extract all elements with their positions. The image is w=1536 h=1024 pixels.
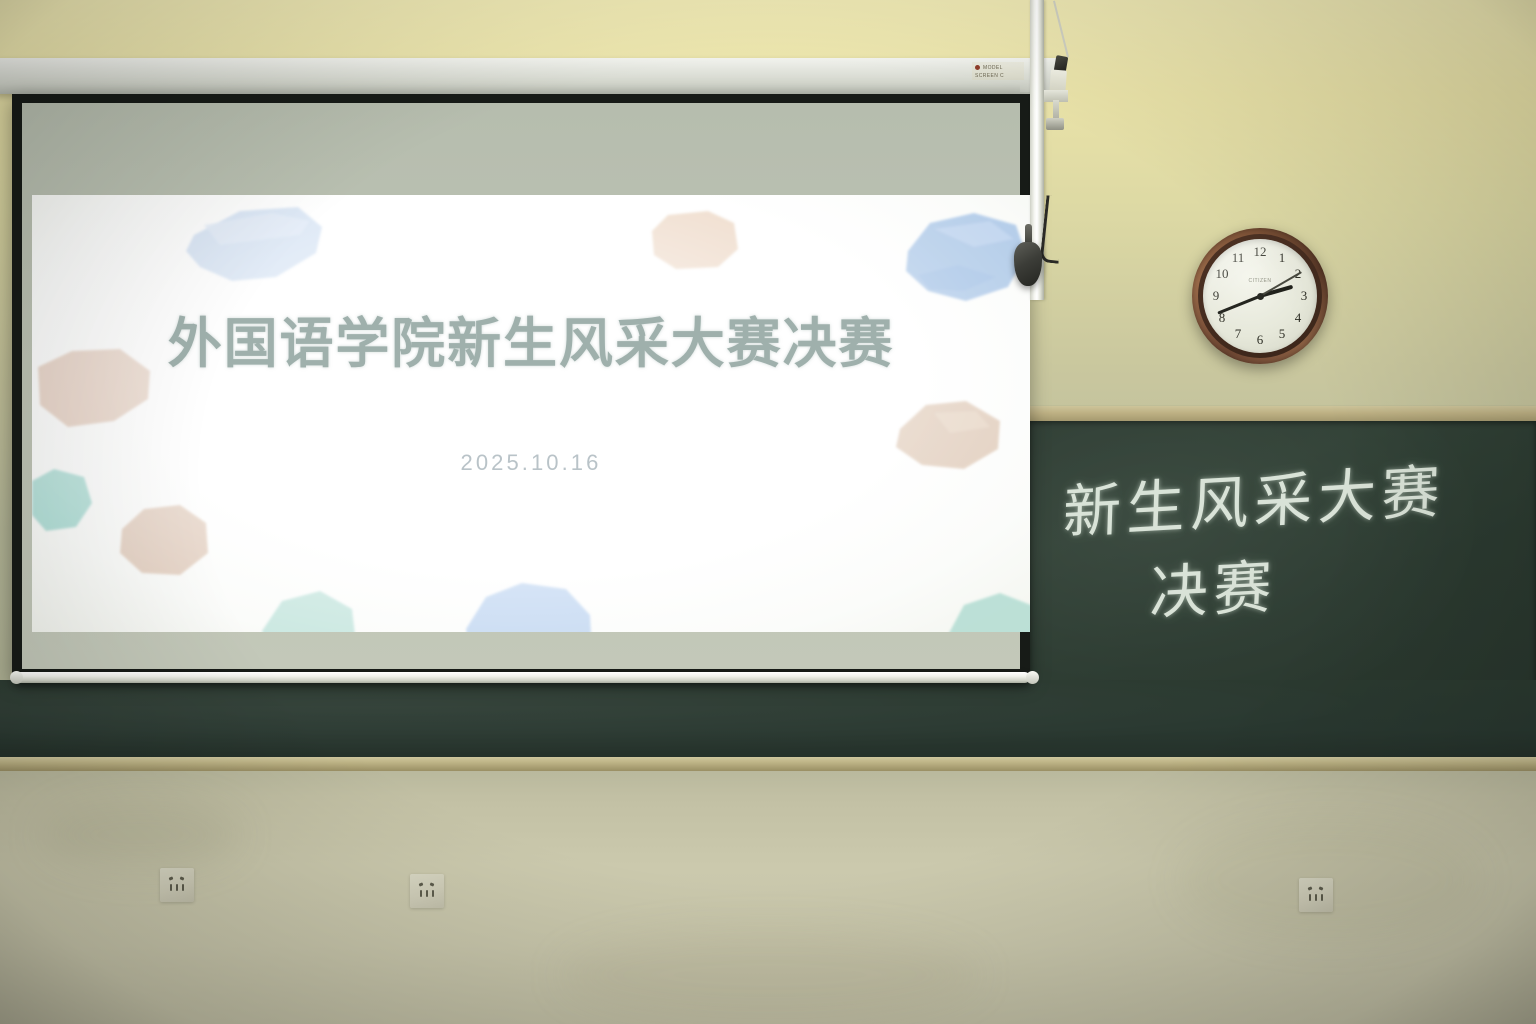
clock-minute-hand — [1217, 295, 1261, 315]
wall-outlet-center[interactable] — [410, 874, 444, 908]
clock-num-12: 12 — [1254, 244, 1267, 260]
screen-weight-bar-cap-left — [10, 671, 23, 684]
clock-num-4: 4 — [1295, 310, 1302, 326]
wall-outlet-left[interactable] — [160, 868, 194, 902]
outlet-socket — [167, 876, 187, 894]
clock-num-7: 7 — [1235, 326, 1242, 342]
clock-face: CITIZEN 12 1 2 3 4 5 6 7 8 9 10 11 — [1203, 239, 1317, 353]
clock-second-hand — [1260, 271, 1302, 296]
blue-brush-top-right — [904, 211, 1030, 303]
clock-num-1: 1 — [1279, 250, 1286, 266]
projector-screen-surface: 外国语学院新生风采大赛决赛 2025.10.16 — [22, 103, 1020, 669]
slide-title: 外国语学院新生风采大赛决赛 — [32, 299, 1030, 378]
chalk-tray — [0, 757, 1536, 771]
screen-weight-bar-cap-right — [1026, 671, 1039, 684]
screen-roller-housing — [0, 58, 1058, 94]
clock-brand-text: CITIZEN — [1249, 278, 1272, 284]
slide-date: 2025.10.16 — [32, 450, 1030, 476]
wall-clock: CITIZEN 12 1 2 3 4 5 6 7 8 9 10 11 — [1192, 228, 1328, 364]
clock-num-6: 6 — [1257, 332, 1264, 348]
clock-center-pin — [1257, 293, 1264, 300]
clock-num-11: 11 — [1232, 250, 1245, 266]
blackboard-lower-strip — [0, 680, 1536, 762]
outlet-socket — [1306, 886, 1326, 904]
blue-brush-bottom-mid — [460, 581, 596, 632]
screen-weight-bar[interactable] — [14, 672, 1030, 683]
projector-screen-frame: 外国语学院新生风采大赛决赛 2025.10.16 — [12, 94, 1030, 678]
clock-num-10: 10 — [1216, 266, 1229, 282]
blackboard-lower-sheen — [0, 680, 1536, 762]
chalk-handwriting-line-2: 决赛 — [1149, 540, 1279, 631]
label-subtext: SCREEN C — [975, 73, 1004, 79]
peach-brush-top-mid — [646, 209, 742, 271]
teal-brush-far-left — [32, 467, 94, 533]
label-text: MODEL — [983, 65, 1003, 71]
wall-outlet-right[interactable] — [1299, 878, 1333, 912]
teal-brush-bottom-right — [944, 591, 1030, 632]
projected-slide: 外国语学院新生风采大赛决赛 2025.10.16 — [32, 195, 1030, 632]
blackboard-top-trim — [1030, 406, 1536, 422]
label-dot-icon — [975, 65, 980, 70]
teal-brush-bottom-left — [254, 587, 360, 632]
outlet-socket — [417, 882, 437, 900]
clock-num-5: 5 — [1279, 326, 1286, 342]
mount-bracket-foot — [1046, 118, 1064, 130]
peach-brush-lower-left — [118, 503, 212, 579]
classroom-scene: 新生风采大赛 决赛 MODEL SCREEN C — [0, 0, 1536, 1024]
blue-brush-top-left — [180, 205, 330, 283]
screen-housing-label: MODEL SCREEN C — [972, 62, 1024, 80]
clock-num-9: 9 — [1213, 288, 1220, 304]
clock-num-3: 3 — [1301, 288, 1308, 304]
